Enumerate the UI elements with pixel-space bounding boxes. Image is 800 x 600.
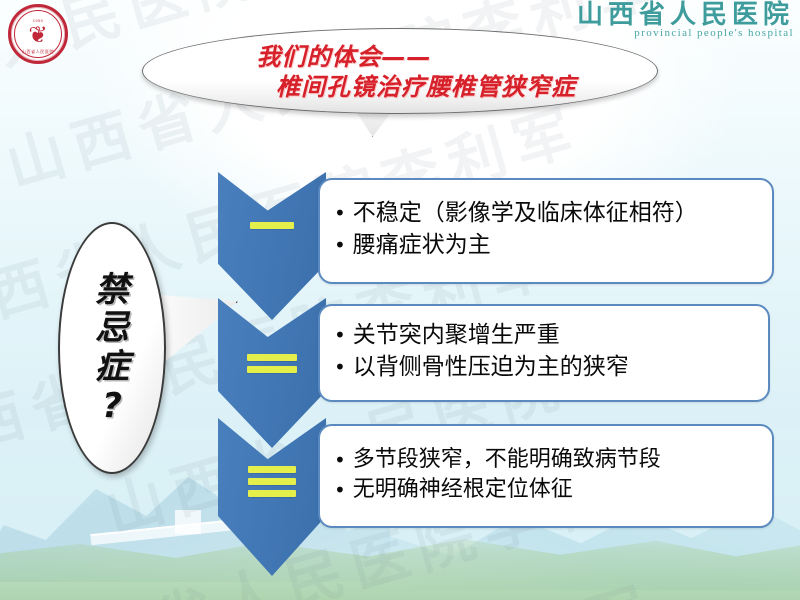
bullet-dot-icon: • bbox=[334, 230, 346, 260]
bullet-dot-icon: • bbox=[334, 198, 346, 228]
bullet-text: 无明确神经根定位体征 bbox=[353, 475, 573, 505]
bullet-row: • 多节段狭窄，不能明确致病节段 bbox=[334, 445, 762, 475]
callout-char-2: 忌 bbox=[95, 311, 129, 346]
page-title-line1: 我们的体会—— bbox=[257, 42, 432, 72]
content-card-2: • 关节突内聚增生严重 • 以背侧骨性压迫为主的狭窄 bbox=[318, 304, 770, 402]
bullet-row: • 关节突内聚增生严重 bbox=[334, 320, 758, 352]
number-bars-2 bbox=[247, 354, 297, 373]
number-bar bbox=[248, 478, 296, 485]
hospital-logo-icon: 1950 ❦ 山西省人民医院 bbox=[8, 4, 68, 64]
bullet-text: 关节突内聚增生严重 bbox=[353, 320, 560, 352]
bullet-dot-icon: • bbox=[334, 445, 346, 475]
bullet-text: 腰痛症状为主 bbox=[353, 230, 491, 262]
green-hills bbox=[0, 522, 800, 600]
brand-name-cn: 山西省人民医院 bbox=[577, 2, 794, 29]
content-card-3: • 多节段狭窄，不能明确致病节段 • 无明确神经根定位体征 bbox=[318, 424, 774, 528]
logo-subtext: 山西省人民医院 bbox=[22, 49, 54, 55]
bullet-row: • 无明确神经根定位体征 bbox=[334, 475, 762, 505]
contraindication-callout: 禁 忌 症 ? bbox=[58, 222, 166, 474]
watchtower-3 bbox=[175, 510, 201, 534]
number-bar bbox=[250, 222, 294, 229]
number-bar bbox=[248, 490, 296, 497]
dove-icon: ❦ bbox=[28, 24, 47, 47]
bullet-dot-icon: • bbox=[334, 352, 346, 382]
number-bars-3 bbox=[248, 466, 296, 497]
page-title-line2: 椎间孔镜治疗腰椎管狭窄症 bbox=[276, 72, 576, 102]
bullet-text: 多节段狭窄，不能明确致病节段 bbox=[353, 445, 661, 475]
bullet-row: • 腰痛症状为主 bbox=[334, 230, 762, 262]
chevron-marker-1 bbox=[218, 172, 326, 320]
title-text-group: 我们的体会—— 椎间孔镜治疗腰椎管狭窄症 bbox=[142, 28, 658, 114]
number-bar bbox=[248, 466, 296, 473]
number-bar bbox=[247, 366, 297, 373]
bullet-row: • 不稳定（影像学及临床体征相符） bbox=[334, 198, 762, 230]
bullet-text: 以背侧骨性压迫为主的狭窄 bbox=[353, 352, 629, 384]
callout-question-mark: ? bbox=[102, 389, 122, 424]
callout-text-group: 禁 忌 症 ? bbox=[58, 222, 166, 474]
number-bars-1 bbox=[250, 222, 294, 229]
title-speech-bubble: 我们的体会—— 椎间孔镜治疗腰椎管狭窄症 bbox=[142, 28, 658, 114]
bullet-dot-icon: • bbox=[334, 475, 346, 505]
bullet-dot-icon: • bbox=[334, 320, 346, 350]
bullet-row: • 以背侧骨性压迫为主的狭窄 bbox=[334, 352, 758, 384]
bullet-text: 不稳定（影像学及临床体征相符） bbox=[353, 198, 698, 230]
callout-char-3: 症 bbox=[95, 350, 129, 385]
slide-canvas: 山西省人民医院李利军 山西省人民医院李利军 山西省人民医院李利军 山西省人民医院… bbox=[0, 0, 800, 600]
number-bar bbox=[247, 354, 297, 361]
callout-char-1: 禁 bbox=[95, 273, 129, 308]
content-card-1: • 不稳定（影像学及临床体征相符） • 腰痛症状为主 bbox=[318, 178, 774, 284]
chevron-marker-2 bbox=[218, 298, 326, 448]
